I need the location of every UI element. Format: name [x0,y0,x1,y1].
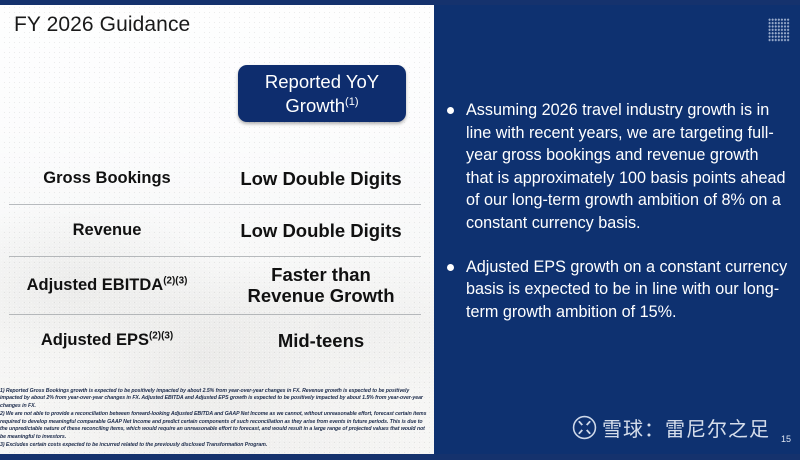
metric-value: Low Double Digits [218,220,434,241]
metric-value: Low Double Digits [218,168,434,189]
metric-label: Gross Bookings [0,169,218,188]
badge-line-2: Growth [285,95,345,116]
footnotes-block: 1) Reported Gross Bookings growth is exp… [0,388,431,450]
bullet-list: Assuming 2026 travel industry growth is … [445,99,788,344]
badge-footnote-marker: (1) [345,95,359,107]
watermark: 雪球：雷尼尔之足 [572,413,770,442]
slide-canvas: FY 2026 Guidance Reported YoY Growth(1) … [0,0,800,460]
metric-label: Adjusted EBITDA(2)(3) [0,276,218,295]
list-item: Assuming 2026 travel industry growth is … [445,99,788,235]
table-row: Adjusted EBITDA(2)(3) Faster than Revenu… [0,256,434,314]
metric-value: Mid-teens [218,330,434,351]
right-panel: Assuming 2026 travel industry growth is … [434,4,800,456]
top-edge-strip [0,0,800,5]
reported-yoy-growth-badge: Reported YoY Growth(1) [238,65,406,122]
xueqiu-logo-icon [572,415,597,440]
left-panel: FY 2026 Guidance Reported YoY Growth(1) … [0,4,434,456]
metric-value-line-2: Revenue Growth [248,285,395,306]
metric-label-text: Revenue [73,221,142,239]
bullet-text: Adjusted EPS growth on a constant curren… [466,258,787,321]
metric-label-superscript: (2)(3) [163,275,187,286]
metric-label-text: Adjusted EPS [41,331,149,349]
table-row: Gross Bookings Low Double Digits [0,152,434,204]
badge-line-1: Reported YoY [265,71,379,92]
bottom-edge-strip [0,454,800,460]
table-row: Revenue Low Double Digits [0,204,434,256]
metric-label-text: Adjusted EBITDA [27,276,164,294]
list-item: Adjusted EPS growth on a constant curren… [445,256,788,324]
footnote-3: 3) Excludes certain costs expected to be… [0,442,431,450]
bullet-dot-icon [447,264,454,271]
guidance-metric-table: Gross Bookings Low Double Digits Revenue… [0,152,434,366]
page-number: 15 [781,434,791,444]
metric-label-text: Gross Bookings [43,169,170,187]
watermark-text: 雪球：雷尼尔之足 [602,413,770,442]
page-title: FY 2026 Guidance [14,13,190,37]
metric-label: Revenue [0,221,218,240]
table-row: Adjusted EPS(2)(3) Mid-teens [0,314,434,366]
badge-text: Reported YoY Growth(1) [265,70,379,118]
bullet-text: Assuming 2026 travel industry growth is … [466,101,785,232]
footnote-1: 1) Reported Gross Bookings growth is exp… [0,388,431,411]
footnote-2: 2) We are not able to provide a reconcil… [0,411,431,441]
metric-value: Faster than Revenue Growth [218,264,434,306]
bullet-dot-icon [447,107,454,114]
metric-label: Adjusted EPS(2)(3) [0,331,218,350]
metric-label-superscript: (2)(3) [149,330,173,341]
dot-grid-decoration-icon [768,18,790,42]
metric-value-line-1: Faster than [271,264,371,285]
